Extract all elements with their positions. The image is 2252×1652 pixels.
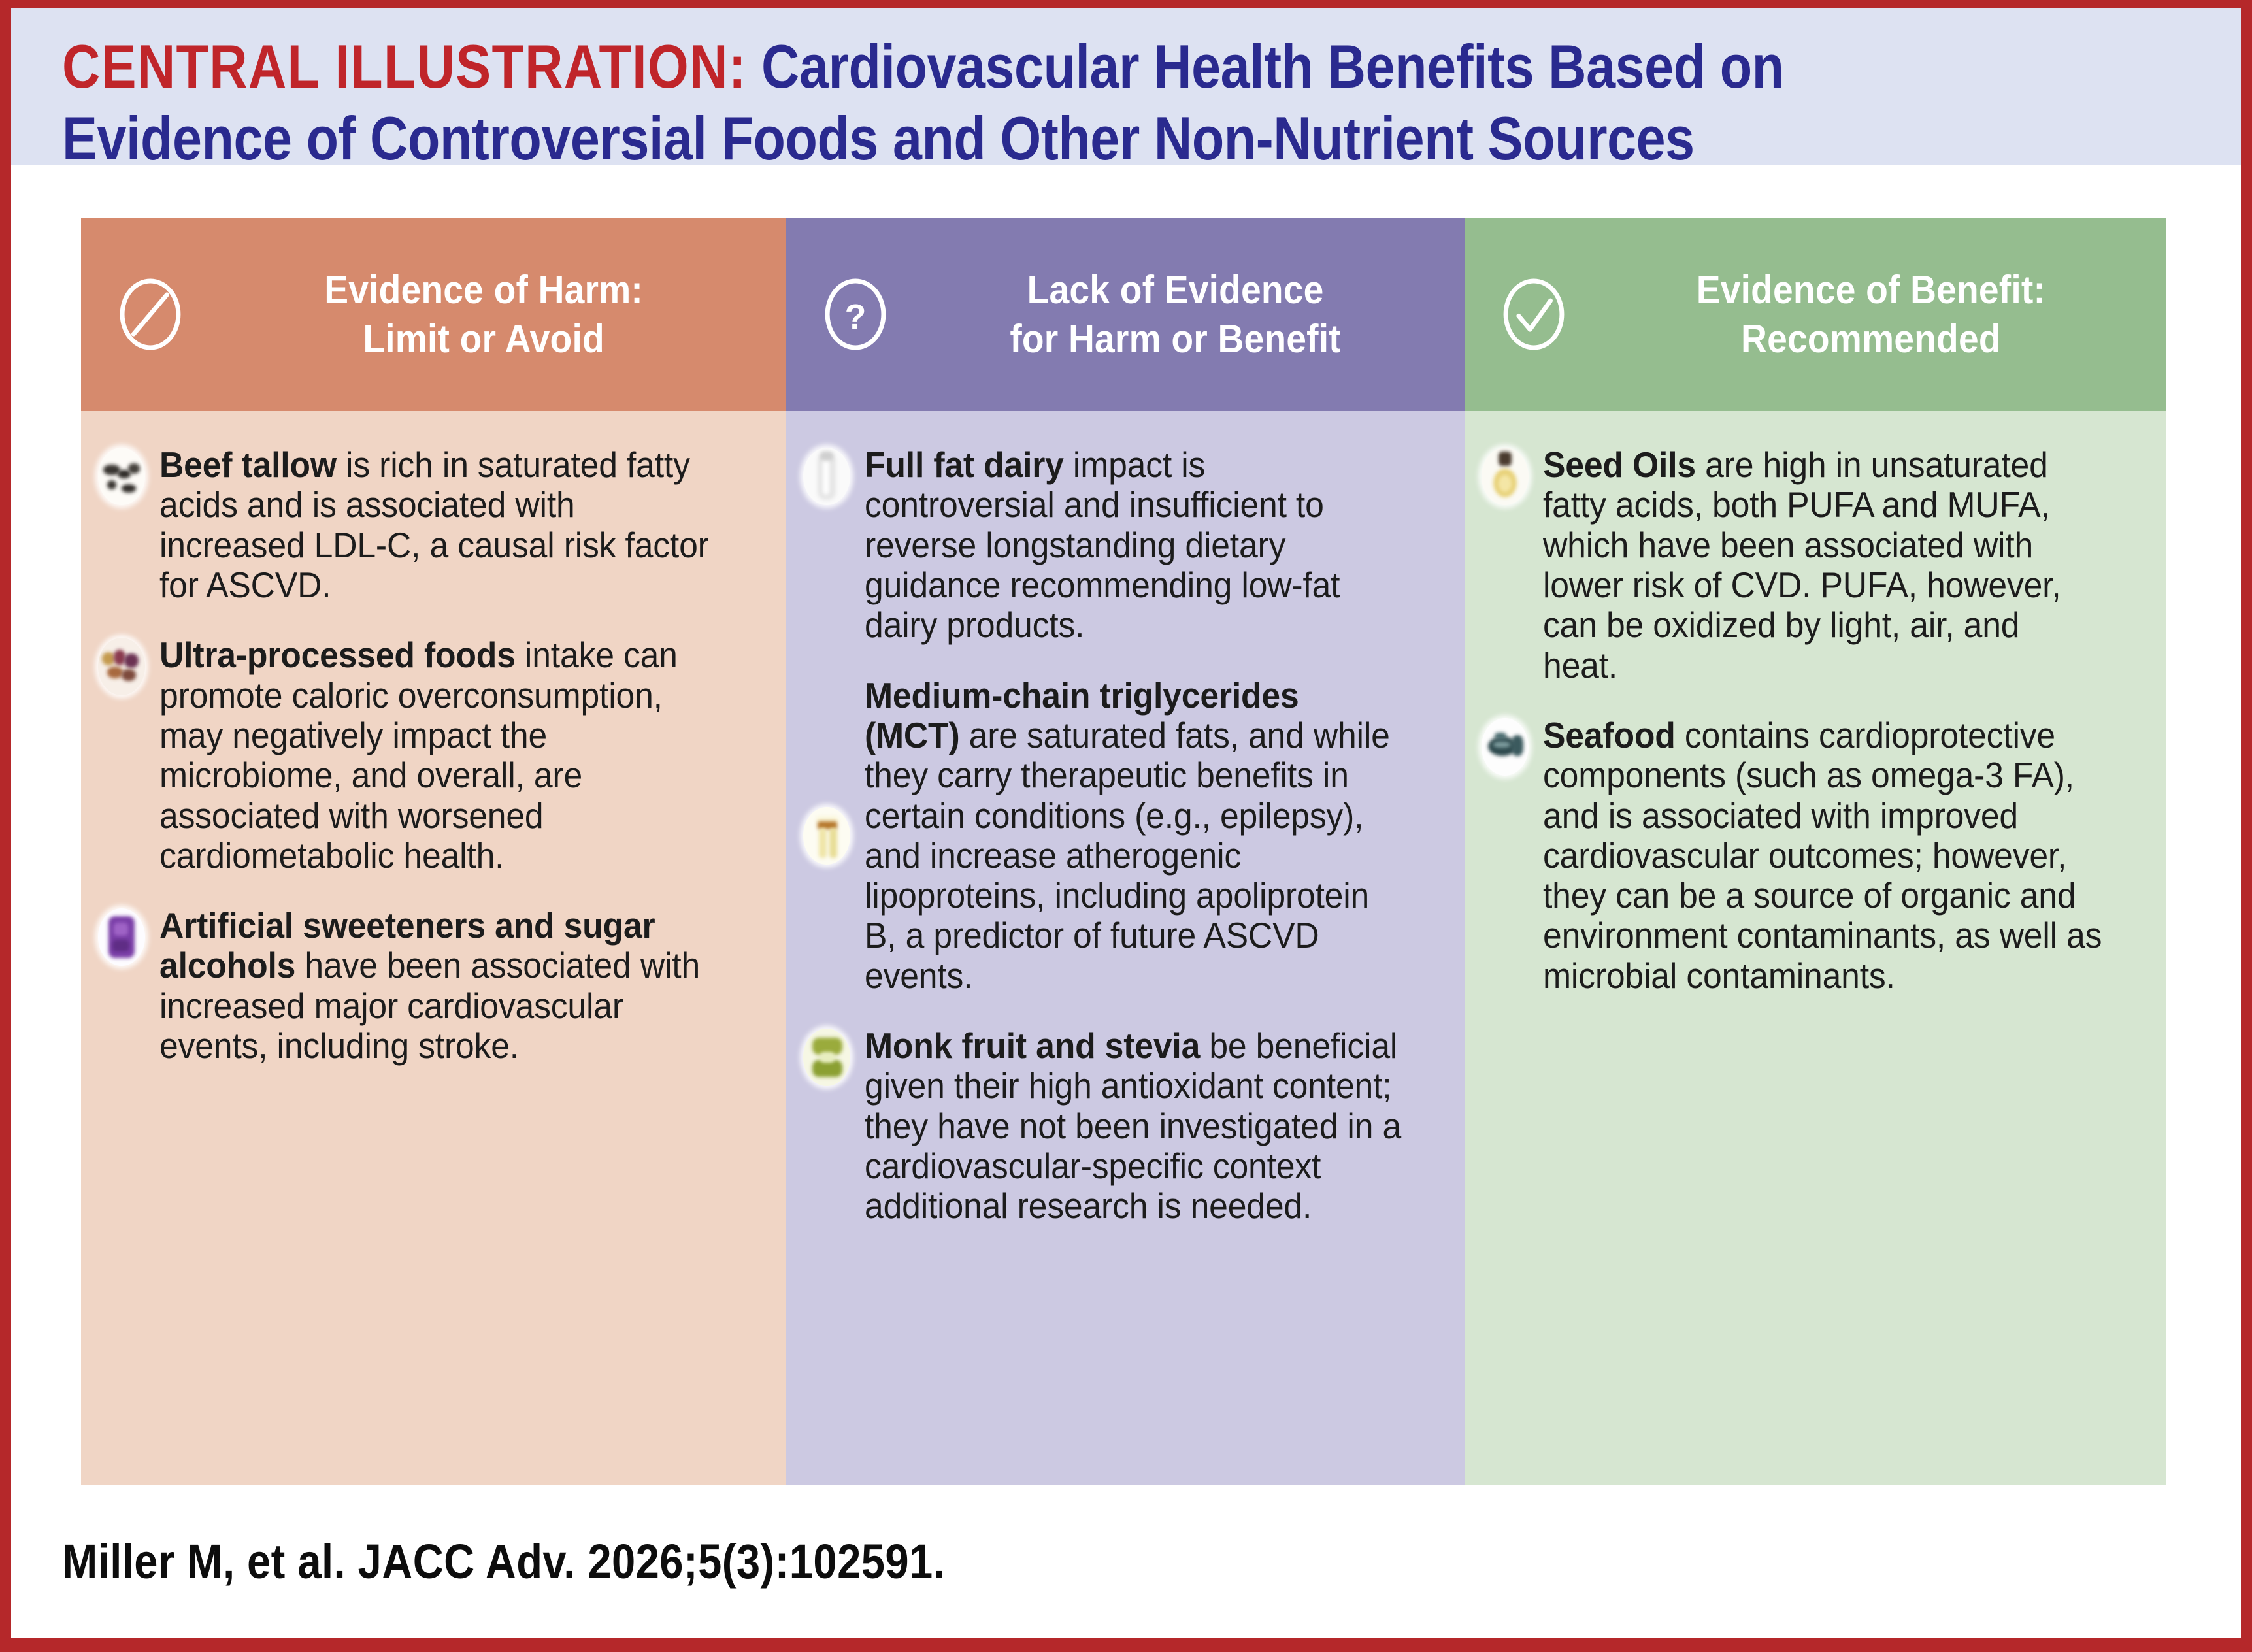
evidence-columns: Evidence of Harm: Limit or Avoid Beef ta…	[81, 218, 2166, 1485]
column-header-harm: Evidence of Harm: Limit or Avoid	[81, 218, 786, 411]
list-item-text: Monk fruit and stevia be beneficial give…	[865, 1026, 1402, 1227]
list-item-lead: Beef tallow	[159, 444, 337, 485]
sweetener-packet-icon	[98, 908, 145, 966]
monk-fruit-icon	[803, 1029, 850, 1086]
page-title: CENTRAL ILLUSTRATION: Cardiovascular Hea…	[62, 31, 1902, 174]
list-item-body: are saturated fats, and while they carry…	[865, 715, 1390, 996]
list-item-text: Beef tallow is rich in saturated fatty a…	[159, 445, 721, 605]
list-item: Artificial sweeteners and sugar alcohols…	[98, 906, 757, 1066]
central-illustration-label: CENTRAL ILLUSTRATION:	[62, 32, 747, 101]
list-item: Beef tallow is rich in saturated fatty a…	[98, 445, 757, 605]
title-band: CENTRAL ILLUSTRATION: Cardiovascular Hea…	[11, 8, 2241, 165]
list-item-text: Artificial sweeteners and sugar alcohols…	[159, 906, 721, 1066]
citation: Miller M, et al. JACC Adv. 2026;5(3):102…	[62, 1538, 945, 1586]
list-item-lead: Ultra-processed foods	[159, 635, 516, 675]
oil-bottle-icon	[1482, 448, 1529, 505]
column-body-lack: Full fat dairy impact is controversial a…	[786, 411, 1465, 1485]
question-circle-icon: ?	[818, 276, 893, 352]
column-title-harm: Evidence of Harm: Limit or Avoid	[229, 265, 763, 363]
milk-bottle-icon	[803, 448, 850, 505]
column-evidence-of-harm: Evidence of Harm: Limit or Avoid Beef ta…	[81, 218, 786, 1485]
mct-oil-bottle-icon	[803, 807, 850, 865]
column-body-harm: Beef tallow is rich in saturated fatty a…	[81, 411, 786, 1485]
column-lack-of-evidence: ? Lack of Evidence for Harm or Benefit F…	[786, 218, 1465, 1485]
column-body-benefit: Seed Oils are high in unsaturated fatty …	[1465, 411, 2166, 1485]
list-item-text: Full fat dairy impact is controversial a…	[865, 445, 1402, 646]
list-item-lead: Seafood	[1543, 715, 1676, 755]
list-item: Seed Oils are high in unsaturated fatty …	[1482, 445, 2138, 686]
list-item-body: contains cardioprotective components (su…	[1543, 715, 2102, 996]
list-item: Monk fruit and stevia be beneficial give…	[803, 1026, 1436, 1227]
cow-icon	[98, 448, 145, 505]
column-header-benefit: Evidence of Benefit: Recommended	[1465, 218, 2166, 411]
column-header-lack: ? Lack of Evidence for Harm or Benefit	[786, 218, 1465, 411]
check-circle-icon	[1496, 276, 1572, 352]
list-item-text: Ultra-processed foods intake can promote…	[159, 635, 721, 876]
column-title-benefit: Evidence of Benefit: Recommended	[1612, 265, 2143, 363]
column-title-lack: Lack of Evidence for Harm or Benefit	[933, 265, 1442, 363]
list-item-lead: Monk fruit and stevia	[865, 1025, 1200, 1066]
svg-text:?: ?	[845, 298, 867, 337]
list-item-text: Medium-chain triglycerides (MCT) are sat…	[865, 676, 1402, 997]
central-illustration-figure: CENTRAL ILLUSTRATION: Cardiovascular Hea…	[0, 0, 2252, 1652]
list-item: Full fat dairy impact is controversial a…	[803, 445, 1436, 646]
list-item: Medium-chain triglycerides (MCT) are sat…	[803, 676, 1436, 997]
fish-icon	[1482, 718, 1529, 776]
column-evidence-of-benefit: Evidence of Benefit: Recommended Seed Oi…	[1465, 218, 2166, 1485]
list-item-text: Seafood contains cardioprotective compon…	[1543, 716, 2102, 996]
processed-food-icon	[98, 638, 145, 695]
list-item-lead: Full fat dairy	[865, 444, 1064, 485]
prohibition-circle-icon	[112, 276, 188, 352]
list-item-text: Seed Oils are high in unsaturated fatty …	[1543, 445, 2102, 686]
list-item: Ultra-processed foods intake can promote…	[98, 635, 757, 876]
list-item: Seafood contains cardioprotective compon…	[1482, 716, 2138, 996]
list-item-lead: Seed Oils	[1543, 444, 1696, 485]
